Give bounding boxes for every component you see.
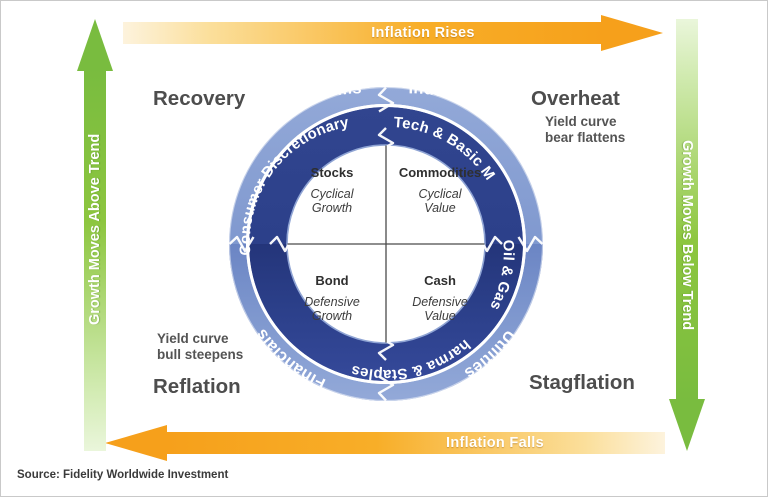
asset-style-line1: Defensive: [304, 295, 360, 310]
asset-style-line1: Cyclical: [418, 187, 461, 202]
growth-above-trend-arrow: Growth Moves Above Trend: [77, 19, 113, 451]
arrow-head-down-icon: [669, 399, 705, 451]
asset-name: Commodities: [399, 165, 481, 180]
asset-style: Defensive Value: [412, 295, 468, 324]
investment-clock-figure: Inflation Rises Inflation Falls Growth M…: [0, 0, 768, 497]
inflation-rises-label: Inflation Rises: [273, 22, 573, 44]
investment-clock-dial: Telecoms Industrials Utilities Financial…: [214, 72, 558, 416]
center-quadrant-commodities: Commodities Cyclical Value: [386, 136, 494, 244]
inflation-falls-label: Inflation Falls: [345, 432, 645, 454]
asset-style-line2: Growth: [304, 309, 360, 324]
center-quadrant-stocks: Stocks Cyclical Growth: [278, 136, 386, 244]
asset-style-line2: Value: [418, 201, 461, 216]
arrow-head-right-icon: [601, 15, 663, 51]
asset-style: Cyclical Value: [418, 187, 461, 216]
inflation-rises-arrow: Inflation Rises: [123, 15, 663, 51]
growth-below-trend-arrow: Growth Moves Below Trend: [669, 19, 705, 451]
center-quadrant-grid: Stocks Cyclical Growth Commodities Cycli…: [278, 136, 494, 352]
center-quadrant-bond: Bond Defensive Growth: [278, 244, 386, 352]
asset-style-line2: Value: [412, 309, 468, 324]
growth-above-trend-label: Growth Moves Above Trend: [84, 79, 106, 379]
asset-style-line1: Defensive: [412, 295, 468, 310]
asset-style-line2: Growth: [310, 201, 353, 216]
arrow-head-up-icon: [77, 19, 113, 71]
asset-style: Defensive Growth: [304, 295, 360, 324]
asset-name: Stocks: [311, 165, 354, 180]
growth-below-trend-label: Growth Moves Below Trend: [676, 85, 698, 385]
arrow-head-left-icon: [105, 425, 167, 461]
inflation-falls-arrow: Inflation Falls: [105, 425, 665, 461]
center-quadrant-cash: Cash Defensive Value: [386, 244, 494, 352]
asset-name: Bond: [315, 273, 348, 288]
source-attribution: Source: Fidelity Worldwide Investment: [17, 469, 228, 481]
asset-style: Cyclical Growth: [310, 187, 353, 216]
asset-style-line1: Cyclical: [310, 187, 353, 202]
asset-name: Cash: [424, 273, 456, 288]
